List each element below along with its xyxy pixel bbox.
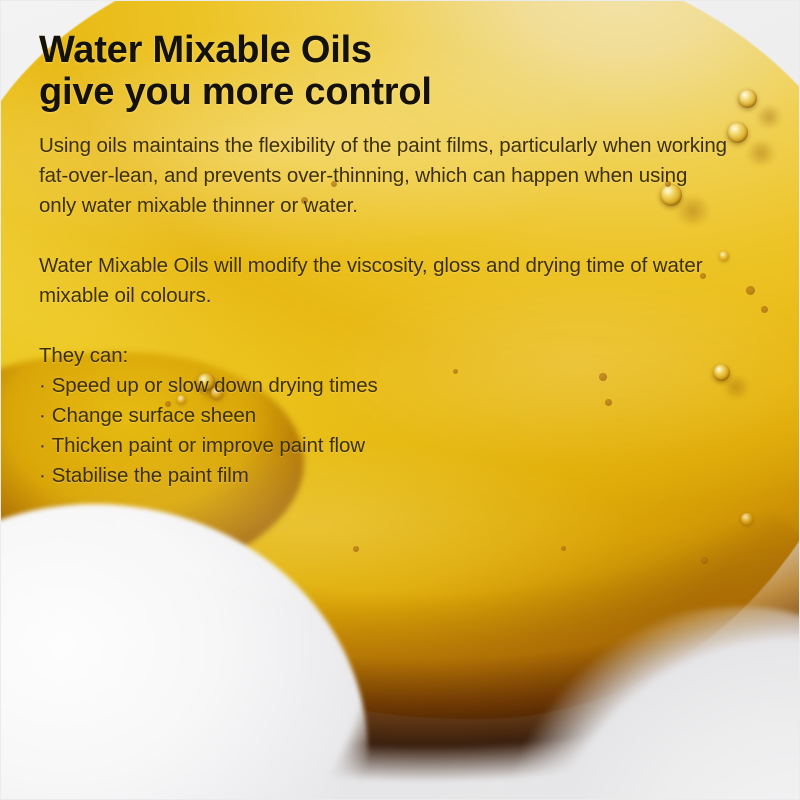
list-item-label: Stabilise the paint film [52, 464, 249, 487]
paragraph-2: Water Mixable Oils will modify the visco… [39, 251, 729, 311]
list-item: ·Stabilise the paint film [39, 461, 729, 491]
bubble-shadow [754, 106, 784, 128]
bubble-shadow [744, 141, 778, 165]
headline-line-1: Water Mixable Oils [39, 29, 729, 71]
capability-list-items: ·Speed up or slow down drying times ·Cha… [39, 371, 729, 491]
list-item-label: Speed up or slow down drying times [52, 374, 378, 397]
bullet-icon: · [39, 434, 52, 457]
air-bubble [761, 306, 768, 313]
headline-line-2: give you more control [39, 71, 729, 113]
list-item: ·Speed up or slow down drying times [39, 371, 729, 401]
list-item: ·Change surface sheen [39, 401, 729, 431]
air-bubble [746, 286, 755, 295]
bullet-icon: · [39, 404, 52, 427]
oil-product-poster: Water Mixable Oils give you more control… [0, 0, 800, 800]
list-item-label: Thicken paint or improve paint flow [52, 434, 365, 457]
air-bubble [561, 546, 566, 551]
air-bubble [353, 546, 359, 552]
list-item: ·Thicken paint or improve paint flow [39, 431, 729, 461]
paragraph-1: Using oils maintains the flexibility of … [39, 131, 729, 221]
page-title: Water Mixable Oils give you more control [39, 29, 729, 113]
body-copy: Using oils maintains the flexibility of … [39, 131, 729, 491]
air-bubble [738, 89, 757, 108]
air-bubble [741, 513, 753, 525]
air-bubble [701, 557, 708, 564]
capability-list: They can: ·Speed up or slow down drying … [39, 341, 729, 491]
poster-copy: Water Mixable Oils give you more control… [39, 29, 729, 491]
air-bubble [727, 122, 748, 143]
capability-list-intro: They can: [39, 341, 729, 371]
bullet-icon: · [39, 374, 52, 397]
bullet-icon: · [39, 464, 52, 487]
list-item-label: Change surface sheen [52, 404, 256, 427]
